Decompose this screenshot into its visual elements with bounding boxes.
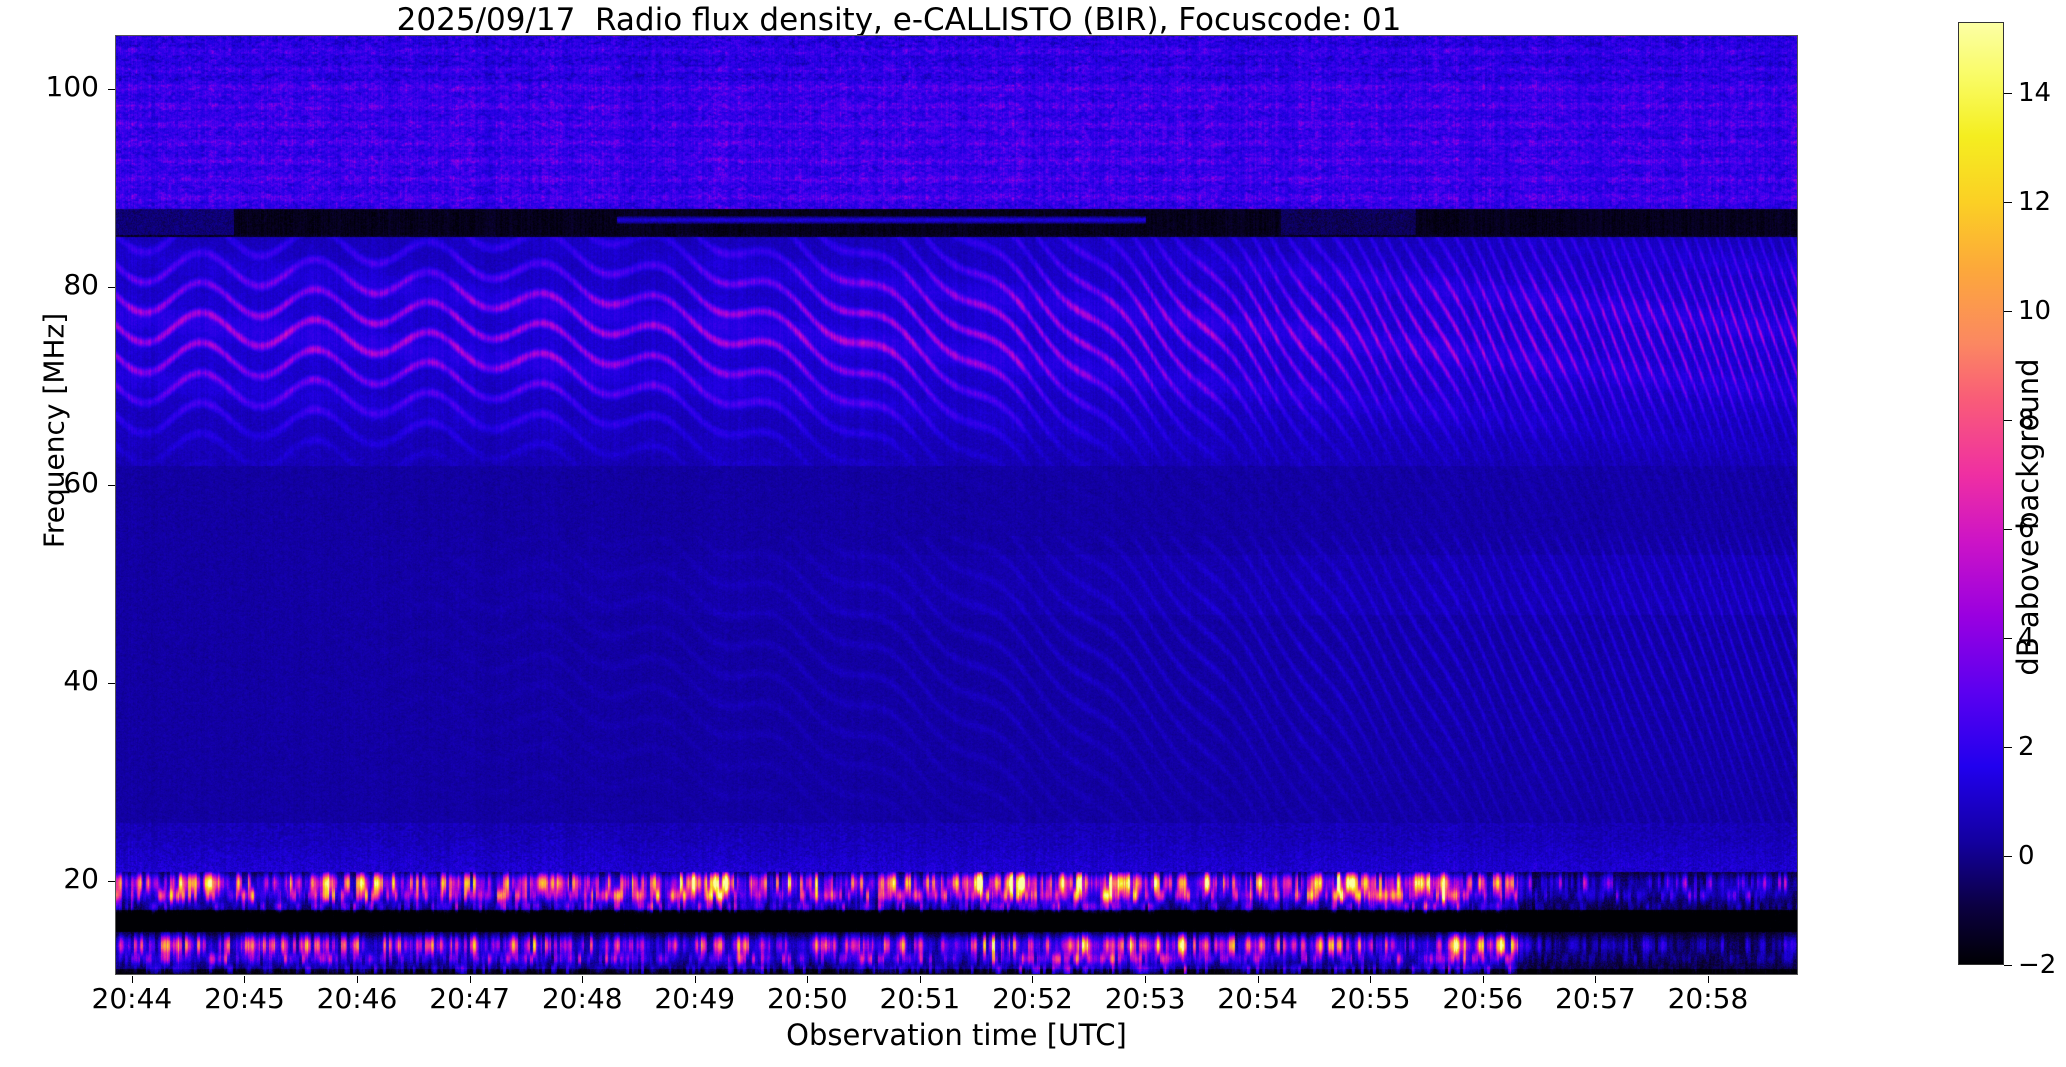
colorbar-label: dB above background xyxy=(2011,307,2045,727)
x-tick-label: 20:51 xyxy=(880,982,961,1015)
y-tick-mark xyxy=(108,287,115,288)
x-tick-label: 20:47 xyxy=(429,982,510,1015)
x-tick-label: 20:54 xyxy=(1217,982,1298,1015)
y-tick-mark xyxy=(108,485,115,486)
x-tick-label: 20:50 xyxy=(767,982,848,1015)
x-tick-label: 20:44 xyxy=(92,982,173,1015)
x-tick-label: 20:48 xyxy=(542,982,623,1015)
x-axis-label: Observation time [UTC] xyxy=(115,1018,1798,1052)
x-tick-label: 20:57 xyxy=(1555,982,1636,1015)
y-tick-mark xyxy=(108,881,115,882)
x-tick-label: 20:45 xyxy=(204,982,285,1015)
y-tick-mark xyxy=(108,683,115,684)
figure-canvas: 2025/09/17 Radio flux density, e-CALLIST… xyxy=(0,0,2066,1067)
x-tick-label: 20:46 xyxy=(317,982,398,1015)
x-tick-label: 20:49 xyxy=(654,982,735,1015)
spectrogram-axes[interactable] xyxy=(115,35,1798,975)
y-axis-label-wrap: Frequency [MHz] xyxy=(22,0,62,1067)
x-tick-label: 20:52 xyxy=(992,982,1073,1015)
x-tick-label: 20:53 xyxy=(1105,982,1186,1015)
spectrogram-image xyxy=(116,36,1798,975)
page-title: 2025/09/17 Radio flux density, e-CALLIST… xyxy=(0,2,1798,38)
x-tick-label: 20:55 xyxy=(1330,982,1411,1015)
y-tick-mark xyxy=(108,89,115,90)
colorbar-label-wrap: dB above background xyxy=(1998,0,2038,1067)
x-tick-label: 20:56 xyxy=(1442,982,1523,1015)
y-axis-label: Frequency [MHz] xyxy=(38,231,71,631)
x-tick-label: 20:58 xyxy=(1668,982,1749,1015)
